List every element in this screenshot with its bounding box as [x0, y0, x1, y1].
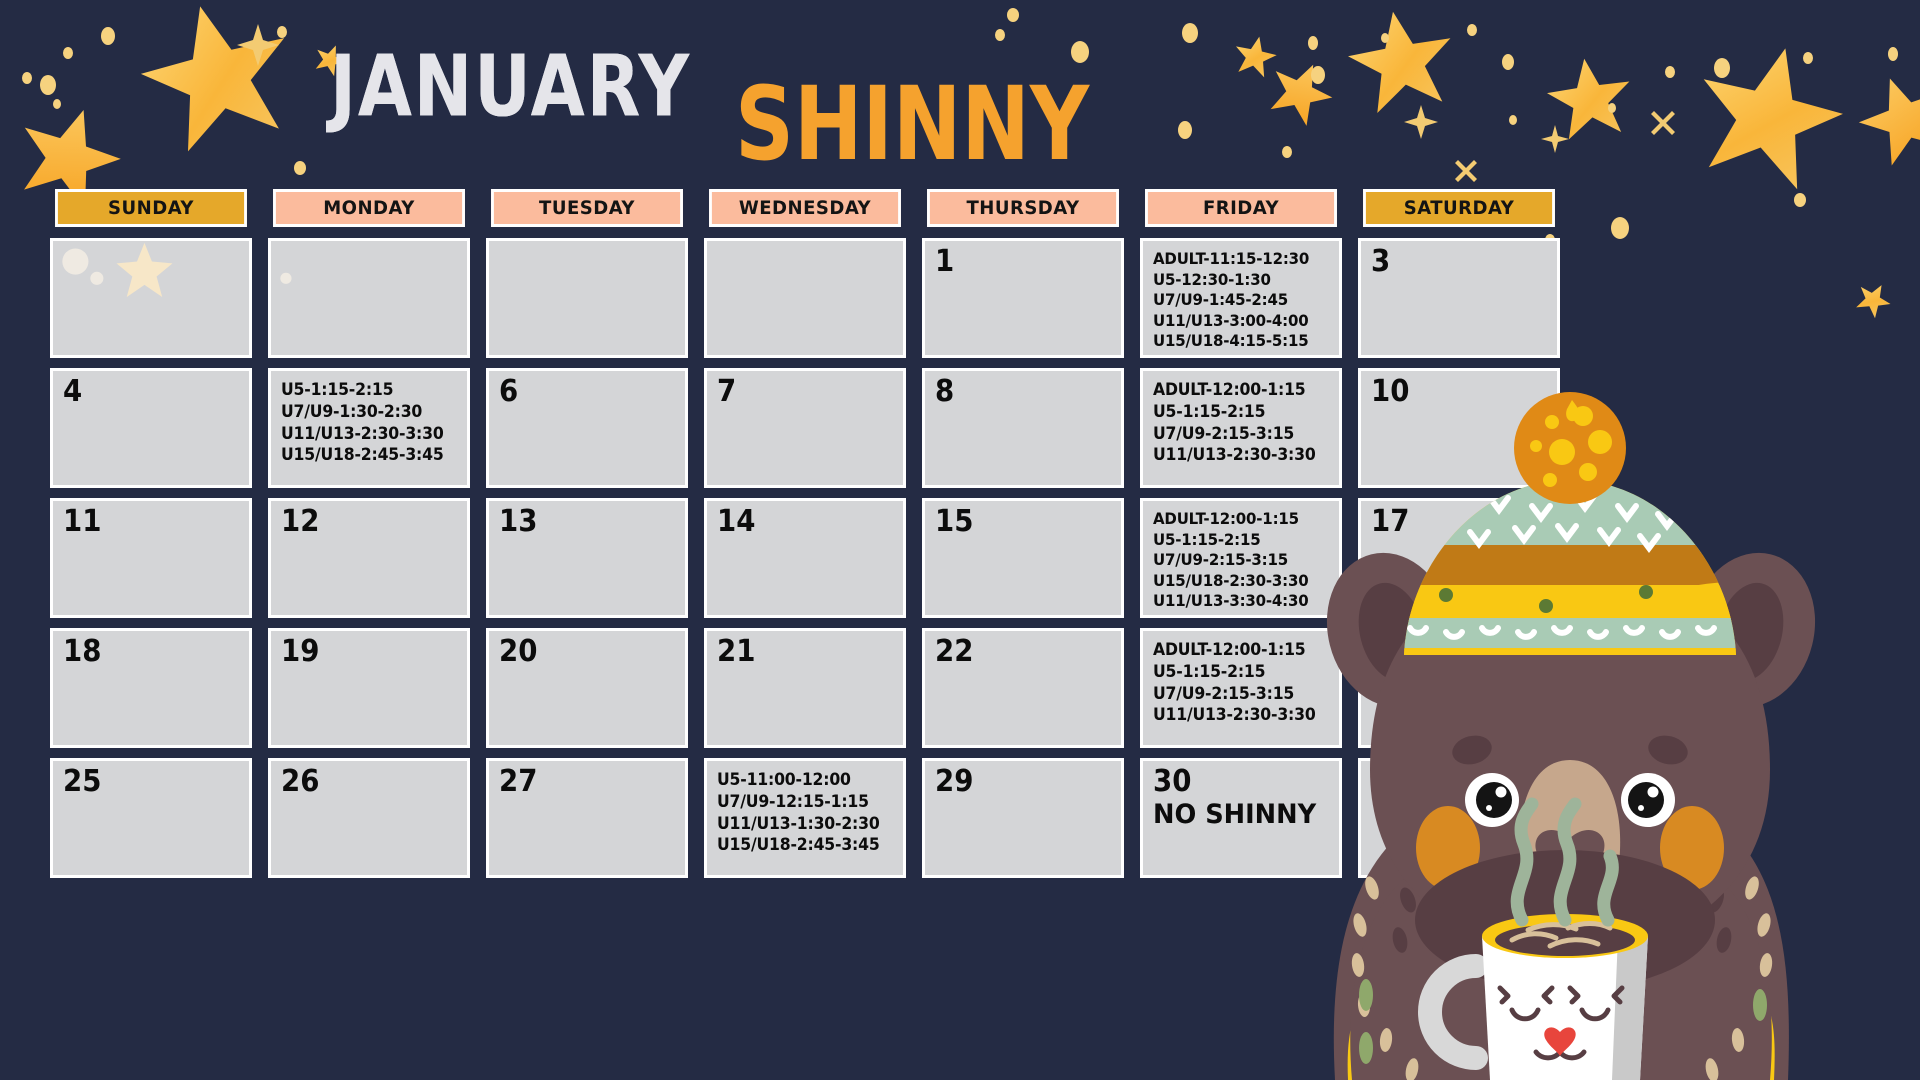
weekday-header-label: SUNDAY: [108, 197, 194, 219]
calendar-grid: SUNDAYMONDAYTUESDAYWEDNESDAYTHURSDAYFRID…: [50, 189, 1560, 878]
month-title: JANUARY: [330, 36, 691, 136]
calendar-week-row: 1112131415ADULT-12:00-1:15U5-1:15-2:15U7…: [50, 498, 1560, 618]
day-number: 30: [1153, 767, 1191, 797]
calendar-day-cell-24[interactable]: 24: [1358, 628, 1560, 748]
calendar-day-cell-29[interactable]: 29: [922, 758, 1124, 878]
day-number: 8: [935, 377, 954, 407]
day-number: 25: [63, 767, 101, 797]
calendar-day-cell-18[interactable]: 18: [50, 628, 252, 748]
cell-decoration: [271, 241, 467, 353]
no-shinny-note: NO SHINNY: [1153, 801, 1316, 828]
weekday-header-label: WEDNESDAY: [739, 197, 871, 219]
weekday-header-label: SATURDAY: [1404, 197, 1515, 219]
weekday-header-saturday: SATURDAY: [1363, 189, 1555, 227]
event-item: U15/U18-2:45-3:45: [281, 444, 451, 466]
calendar-day-cell-20[interactable]: 20: [486, 628, 688, 748]
day-number: 12: [281, 507, 319, 537]
event-list: ADULT-12:00-1:15U5-1:15-2:15U7/U9-2:15-3…: [1153, 639, 1323, 726]
weekday-header-row: SUNDAYMONDAYTUESDAYWEDNESDAYTHURSDAYFRID…: [50, 189, 1560, 227]
event-item: U15/U18-2:45-3:45: [717, 834, 887, 856]
day-number: 4: [63, 377, 82, 407]
calendar-day-cell-14[interactable]: 14: [704, 498, 906, 618]
day-number: 19: [281, 637, 319, 667]
event-item: U5-1:15-2:15: [281, 379, 451, 401]
calendar-day-cell-25[interactable]: 25: [50, 758, 252, 878]
day-number: 17: [1371, 507, 1409, 537]
calendar-day-cell-4[interactable]: 4: [50, 368, 252, 488]
calendar-day-cell[interactable]: [704, 238, 906, 358]
weekday-header-tuesday: TUESDAY: [491, 189, 683, 227]
calendar-weeks: 1ADULT-11:15-12:30U5-12:30-1:30U7/U9-1:4…: [50, 238, 1560, 878]
event-item: ADULT-12:00-1:15: [1153, 379, 1323, 401]
calendar-day-cell-17[interactable]: 17: [1358, 498, 1560, 618]
calendar-day-cell-22[interactable]: 22: [922, 628, 1124, 748]
calendar-day-cell[interactable]: ADULT-12:00-1:15U5-1:15-2:15U7/U9-2:15-3…: [1140, 628, 1342, 748]
calendar-day-cell[interactable]: [486, 238, 688, 358]
day-number: 6: [499, 377, 518, 407]
day-number: 11: [63, 507, 101, 537]
event-item: ADULT-11:15-12:30: [1153, 249, 1323, 270]
calendar-day-cell-3[interactable]: 3: [1358, 238, 1560, 358]
calendar-day-cell-11[interactable]: 11: [50, 498, 252, 618]
calendar-week-row: 1ADULT-11:15-12:30U5-12:30-1:30U7/U9-1:4…: [50, 238, 1560, 358]
calendar-day-cell-12[interactable]: 12: [268, 498, 470, 618]
event-item: U5-12:30-1:30: [1153, 270, 1323, 291]
calendar-day-cell[interactable]: [268, 238, 470, 358]
calendar-week-row: 1819202122ADULT-12:00-1:15U5-1:15-2:15U7…: [50, 628, 1560, 748]
event-list: U5-1:15-2:15U7/U9-1:30-2:30U11/U13-2:30-…: [281, 379, 451, 466]
day-number: 18: [63, 637, 101, 667]
event-item: U7/U9-12:15-1:15: [717, 791, 887, 813]
weekday-header-label: TUESDAY: [539, 197, 635, 219]
day-number: 26: [281, 767, 319, 797]
weekday-header-friday: FRIDAY: [1145, 189, 1337, 227]
calendar-day-cell-31[interactable]: 31: [1358, 758, 1560, 878]
program-title: SHINNY: [735, 64, 1089, 183]
calendar-day-cell[interactable]: [50, 238, 252, 358]
event-item: ADULT-12:00-1:15: [1153, 639, 1323, 661]
weekday-header-thursday: THURSDAY: [927, 189, 1119, 227]
weekday-header-wednesday: WEDNESDAY: [709, 189, 901, 227]
event-item: U11/U13-3:00-4:00: [1153, 311, 1323, 332]
weekday-header-monday: MONDAY: [273, 189, 465, 227]
event-item: U5-1:15-2:15: [1153, 661, 1323, 683]
event-list: ADULT-11:15-12:30U5-12:30-1:30U7/U9-1:45…: [1153, 249, 1323, 352]
day-number: 15: [935, 507, 973, 537]
event-item: U7/U9-1:30-2:30: [281, 401, 451, 423]
calendar-title: JANUARY SHINNY: [0, 14, 1160, 154]
event-item: U7/U9-2:15-3:15: [1153, 550, 1323, 571]
event-item: U11/U13-2:30-3:30: [1153, 704, 1323, 726]
calendar-day-cell-30[interactable]: 30NO SHINNY: [1140, 758, 1342, 878]
day-number: 10: [1371, 377, 1409, 407]
calendar-day-cell[interactable]: U5-1:15-2:15U7/U9-1:30-2:30U11/U13-2:30-…: [268, 368, 470, 488]
event-item: U7/U9-2:15-3:15: [1153, 683, 1323, 705]
event-item: U5-11:00-12:00: [717, 769, 887, 791]
day-number: 29: [935, 767, 973, 797]
event-item: ADULT-12:00-1:15: [1153, 509, 1323, 530]
weekday-header-label: MONDAY: [323, 197, 415, 219]
calendar-day-cell-8[interactable]: 8: [922, 368, 1124, 488]
calendar-week-row: 252627U5-11:00-12:00U7/U9-12:15-1:15U11/…: [50, 758, 1560, 878]
day-number: 27: [499, 767, 537, 797]
day-number: 22: [935, 637, 973, 667]
calendar-day-cell-10[interactable]: 10: [1358, 368, 1560, 488]
event-item: U11/U13-2:30-3:30: [281, 423, 451, 445]
calendar-day-cell-13[interactable]: 13: [486, 498, 688, 618]
event-list: ADULT-12:00-1:15U5-1:15-2:15U7/U9-2:15-3…: [1153, 509, 1323, 612]
day-number: 14: [717, 507, 755, 537]
day-number: 1: [935, 247, 954, 277]
event-item: U5-1:15-2:15: [1153, 530, 1323, 551]
weekday-header-label: FRIDAY: [1203, 197, 1279, 219]
day-number: 20: [499, 637, 537, 667]
calendar-day-cell-15[interactable]: 15: [922, 498, 1124, 618]
event-item: U7/U9-1:45-2:45: [1153, 290, 1323, 311]
calendar-day-cell-19[interactable]: 19: [268, 628, 470, 748]
calendar-day-cell-21[interactable]: 21: [704, 628, 906, 748]
event-list: U5-11:00-12:00U7/U9-12:15-1:15U11/U13-1:…: [717, 769, 887, 856]
calendar-day-cell[interactable]: ADULT-12:00-1:15U5-1:15-2:15U7/U9-2:15-3…: [1140, 368, 1342, 488]
calendar-day-cell[interactable]: ADULT-12:00-1:15U5-1:15-2:15U7/U9-2:15-3…: [1140, 498, 1342, 618]
event-item: U7/U9-2:15-3:15: [1153, 423, 1323, 445]
day-number: 21: [717, 637, 755, 667]
day-number: 7: [717, 377, 736, 407]
event-item: U11/U13-2:30-3:30: [1153, 444, 1323, 466]
calendar-day-cell-26[interactable]: 26: [268, 758, 470, 878]
day-number: 3: [1371, 247, 1390, 277]
event-item: U5-1:15-2:15: [1153, 401, 1323, 423]
day-number: 31: [1371, 767, 1409, 797]
calendar-day-cell-6[interactable]: 6: [486, 368, 688, 488]
cell-decoration: [53, 241, 249, 353]
calendar-week-row: 4U5-1:15-2:15U7/U9-1:30-2:30U11/U13-2:30…: [50, 368, 1560, 488]
weekday-header-sunday: SUNDAY: [55, 189, 247, 227]
weekday-header-label: THURSDAY: [966, 197, 1079, 219]
calendar-day-cell[interactable]: U5-11:00-12:00U7/U9-12:15-1:15U11/U13-1:…: [704, 758, 906, 878]
calendar-day-cell-7[interactable]: 7: [704, 368, 906, 488]
event-item: U11/U13-1:30-2:30: [717, 813, 887, 835]
day-number: 24: [1371, 637, 1409, 667]
event-item: U11/U13-3:30-4:30: [1153, 591, 1323, 612]
calendar-day-cell[interactable]: ADULT-11:15-12:30U5-12:30-1:30U7/U9-1:45…: [1140, 238, 1342, 358]
calendar-day-cell-27[interactable]: 27: [486, 758, 688, 878]
event-item: U15/U18-4:15-5:15: [1153, 331, 1323, 352]
event-list: ADULT-12:00-1:15U5-1:15-2:15U7/U9-2:15-3…: [1153, 379, 1323, 466]
calendar-day-cell-1[interactable]: 1: [922, 238, 1124, 358]
event-item: U15/U18-2:30-3:30: [1153, 571, 1323, 592]
day-number: 13: [499, 507, 537, 537]
